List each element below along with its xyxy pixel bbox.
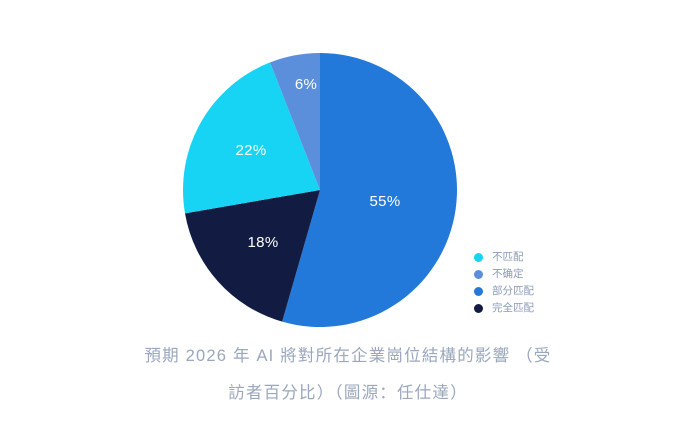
legend-item-3[interactable]: 完全匹配 bbox=[474, 300, 564, 317]
legend-item-label: 不确定 bbox=[492, 266, 524, 283]
legend-item-label: 部分匹配 bbox=[492, 283, 534, 300]
caption-line-2: 訪者百分比）（圖源：任仕達） bbox=[60, 375, 636, 412]
chart-legend: 不匹配 不确定 部分匹配 完全匹配 bbox=[474, 249, 564, 317]
pie-chart-svg: 55%18%22%6% bbox=[0, 0, 696, 330]
legend-swatch-icon bbox=[474, 270, 483, 279]
legend-item-label: 不匹配 bbox=[492, 249, 524, 266]
legend-item-2[interactable]: 部分匹配 bbox=[474, 283, 564, 300]
caption-line-1: 預期 2026 年 AI 將對所在企業崗位結構的影響 （受 bbox=[60, 338, 636, 375]
pie-slice-value-label: 22% bbox=[236, 142, 267, 159]
legend-item-0[interactable]: 不匹配 bbox=[474, 249, 564, 266]
legend-swatch-icon bbox=[474, 304, 483, 313]
chart-plot-area: 55%18%22%6% bbox=[0, 0, 696, 330]
chart-caption: 預期 2026 年 AI 將對所在企業崗位結構的影響 （受 訪者百分比）（圖源：… bbox=[60, 338, 636, 412]
legend-swatch-icon bbox=[474, 287, 483, 296]
pie-chart-figure: 55%18%22%6% 不匹配 不确定 部分匹配 完全匹配 預期 2026 年 … bbox=[0, 0, 696, 425]
legend-swatch-icon bbox=[474, 253, 483, 262]
legend-item-1[interactable]: 不确定 bbox=[474, 266, 564, 283]
legend-item-label: 完全匹配 bbox=[492, 300, 534, 317]
pie-slice-value-label: 18% bbox=[248, 234, 279, 251]
pie-slice-group bbox=[183, 53, 457, 327]
pie-slice-value-label: 6% bbox=[295, 76, 317, 93]
pie-slice-value-label: 55% bbox=[370, 193, 401, 210]
